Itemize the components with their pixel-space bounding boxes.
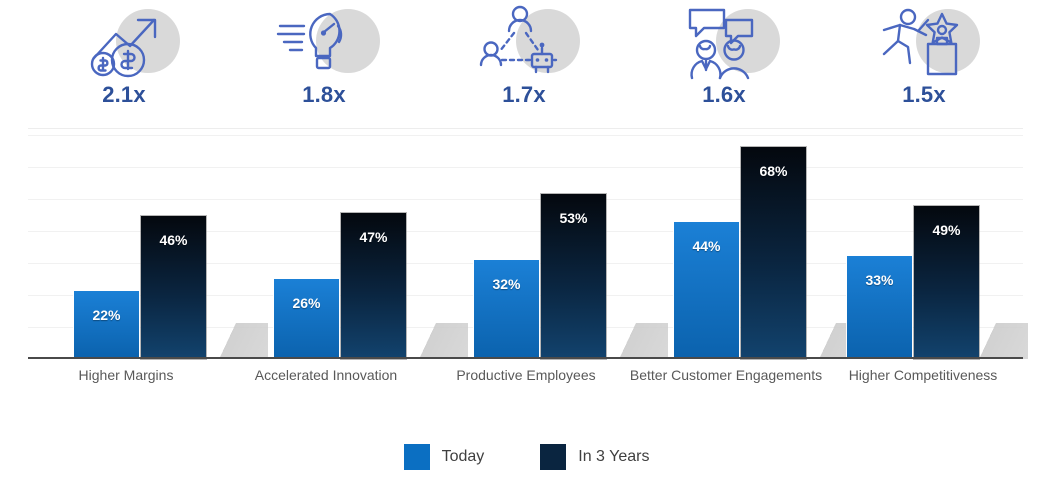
- category-label-higher-competitiveness: Higher Competitiveness: [813, 367, 1033, 383]
- bar-in3years-productive-employees[interactable]: 53%: [541, 194, 606, 359]
- multiplier-value: 1.8x: [302, 84, 346, 106]
- bar-in3years-accelerated-innovation[interactable]: 47%: [341, 213, 406, 359]
- gridline: [28, 167, 1023, 168]
- bar-today-accelerated-innovation[interactable]: 26%: [274, 279, 339, 359]
- gridline: [28, 199, 1023, 200]
- legend-item-in-3-years[interactable]: In 3 Years: [540, 444, 649, 470]
- multiplier-value: 1.6x: [702, 84, 746, 106]
- bar-shadow: [406, 323, 468, 359]
- bar-today-higher-competitiveness[interactable]: 33%: [847, 256, 912, 359]
- bar-value-label: 22%: [74, 307, 139, 323]
- multiplier-cell-accelerated-innovation: 1.8x: [224, 0, 424, 128]
- chart-legend: Today In 3 Years: [0, 440, 1053, 474]
- bar-today-better-customer-engagements[interactable]: 44%: [674, 222, 739, 359]
- category-label-higher-margins: Higher Margins: [16, 367, 236, 383]
- multiplier-value: 1.7x: [502, 84, 546, 106]
- chart-plot-area: 22% 46% 26% 47% 32% 53% 44% 68% 33% 49%: [28, 128, 1023, 359]
- legend-swatch-in-3-years: [540, 444, 566, 470]
- multiplier-cell-higher-margins: 2.1x: [24, 0, 224, 128]
- people-speech-bubbles-icon: [664, 0, 784, 82]
- category-label-better-customer-engagements: Better Customer Engagements: [616, 367, 836, 383]
- multiplier-cell-higher-competitiveness: 1.5x: [824, 0, 1024, 128]
- growth-chart-dollar-icon: [64, 0, 184, 82]
- bar-in3years-higher-margins[interactable]: 46%: [141, 216, 206, 359]
- bar-value-label: 26%: [274, 295, 339, 311]
- runner-star-podium-icon: [864, 0, 984, 82]
- bar-today-higher-margins[interactable]: 22%: [74, 291, 139, 359]
- legend-label-in-3-years: In 3 Years: [578, 448, 649, 466]
- legend-label-today: Today: [442, 448, 485, 466]
- category-label-productive-employees: Productive Employees: [416, 367, 636, 383]
- bar-shadow: [606, 323, 668, 359]
- legend-swatch-today: [404, 444, 430, 470]
- bar-in3years-better-customer-engagements[interactable]: 68%: [741, 147, 806, 359]
- multiplier-value: 1.5x: [902, 84, 946, 106]
- multiplier-cell-better-customer-engagements: 1.6x: [624, 0, 824, 128]
- bar-value-label: 46%: [141, 232, 206, 248]
- category-label-accelerated-innovation: Accelerated Innovation: [216, 367, 436, 383]
- multiplier-cell-productive-employees: 1.7x: [424, 0, 624, 128]
- multiplier-icon-band: 2.1x 1.8x: [0, 0, 1053, 128]
- gridline: [28, 135, 1023, 136]
- bar-value-label: 49%: [914, 222, 979, 238]
- bar-value-label: 68%: [741, 163, 806, 179]
- bar-value-label: 33%: [847, 272, 912, 288]
- bar-value-label: 32%: [474, 276, 539, 292]
- legend-item-today[interactable]: Today: [404, 444, 485, 470]
- bar-value-label: 44%: [674, 238, 739, 254]
- bar-in3years-higher-competitiveness[interactable]: 49%: [914, 206, 979, 359]
- people-robot-network-icon: [464, 0, 584, 82]
- multiplier-value: 2.1x: [102, 84, 146, 106]
- bar-value-label: 47%: [341, 229, 406, 245]
- bar-shadow: [206, 323, 268, 359]
- bar-value-label: 53%: [541, 210, 606, 226]
- x-axis-line: [28, 357, 1023, 359]
- lightbulb-speed-icon: [264, 0, 384, 82]
- bar-today-productive-employees[interactable]: 32%: [474, 260, 539, 359]
